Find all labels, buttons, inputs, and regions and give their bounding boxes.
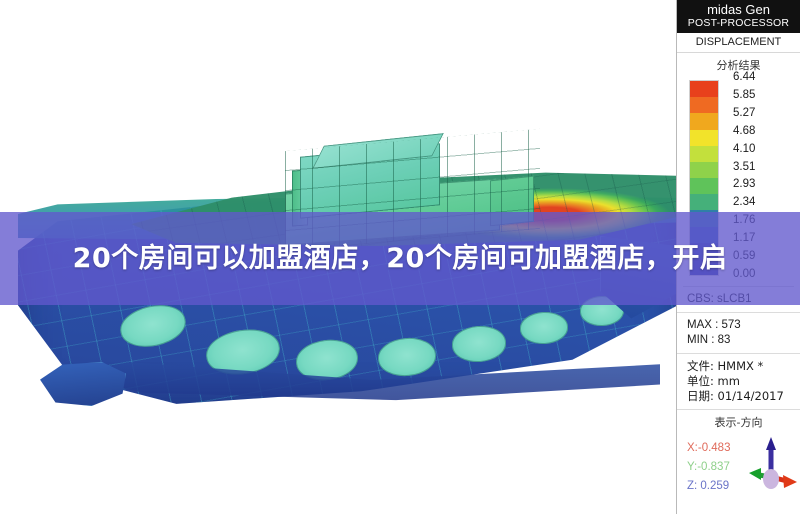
date-value: 日期: 01/14/2017 <box>687 389 792 404</box>
legend-color-band <box>690 146 718 162</box>
screenshot-root: midas Gen POST-PROCESSOR DISPLACEMENT 分析… <box>0 0 800 514</box>
direction-section-label: 表示-方向 <box>677 410 800 435</box>
result-mode-label: DISPLACEMENT <box>677 33 800 53</box>
legend-value: 4.68 <box>733 125 795 138</box>
minmax-block: MAX : 573 MIN : 83 <box>677 313 800 354</box>
legend-value: 5.27 <box>733 107 795 120</box>
app-subtitle: POST-PROCESSOR <box>677 17 800 30</box>
file-name: 文件: HMMX * <box>687 359 792 374</box>
legend-value: 3.51 <box>733 161 795 174</box>
view-direction-block: X:-0.483 Y:-0.837 Z: 0.259 <box>677 435 800 514</box>
caption-overlay-band: 20个房间可以加盟酒店，20个房间可加盟酒店，开启 <box>0 212 800 305</box>
file-info-block: 文件: HMMX * 单位: mm 日期: 01/14/2017 <box>677 354 800 410</box>
panel-header: midas Gen POST-PROCESSOR <box>677 0 800 33</box>
legend-color-band <box>690 130 718 146</box>
caption-text: 20个房间可以加盟酒店，20个房间可加盟酒店，开启 <box>40 242 760 276</box>
min-value: MIN : 83 <box>687 333 792 348</box>
legend-value: 2.34 <box>733 196 795 209</box>
app-title: midas Gen <box>677 2 800 17</box>
legend-color-band <box>690 97 718 113</box>
legend-color-band <box>690 81 718 97</box>
legend-color-band <box>690 162 718 178</box>
legend-value: 5.85 <box>733 89 795 102</box>
max-value: MAX : 573 <box>687 318 792 333</box>
axis-triad-icon <box>743 435 799 497</box>
legend-color-band <box>690 113 718 129</box>
bow-bulb <box>40 362 126 406</box>
legend-color-band <box>690 178 718 194</box>
legend-value: 6.44 <box>733 71 795 84</box>
legend-color-band <box>690 194 718 210</box>
legend-value: 2.93 <box>733 178 795 191</box>
unit-value: 单位: mm <box>687 374 792 389</box>
legend-value: 4.10 <box>733 143 795 156</box>
